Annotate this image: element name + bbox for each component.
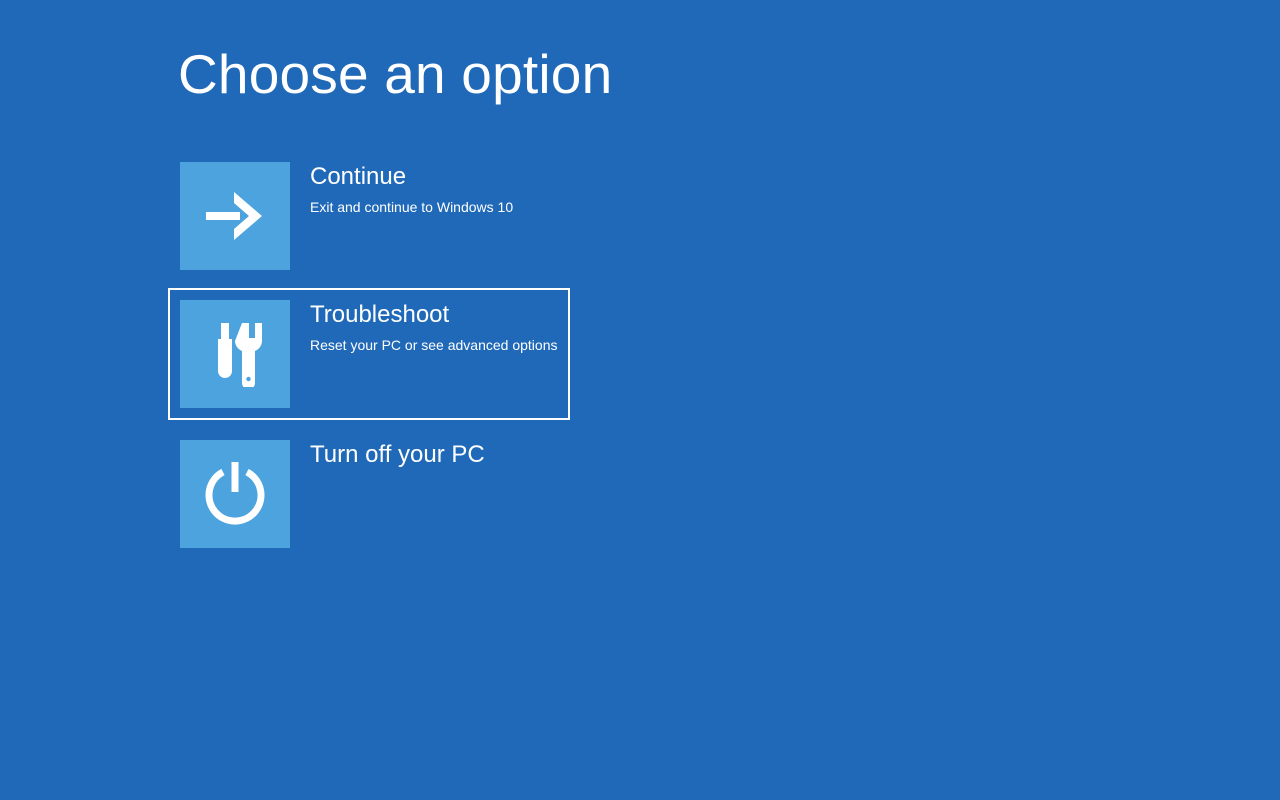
option-text: Turn off your PC	[290, 440, 558, 469]
option-subtitle: Reset your PC or see advanced options	[310, 336, 558, 354]
screwdriver-wrench-icon	[206, 321, 264, 387]
power-icon	[203, 460, 267, 528]
option-title: Troubleshoot	[310, 301, 558, 329]
arrow-right-icon	[204, 190, 266, 242]
option-turn-off-your-pc[interactable]: Turn off your PC	[168, 428, 570, 560]
option-tile	[180, 162, 290, 270]
option-title: Turn off your PC	[310, 441, 558, 469]
option-text: Troubleshoot Reset your PC or see advanc…	[290, 300, 558, 354]
option-tile	[180, 300, 290, 408]
option-continue[interactable]: Continue Exit and continue to Windows 10	[168, 150, 570, 282]
choose-an-option-screen: Choose an option Continue Exit and conti…	[0, 0, 1280, 800]
option-troubleshoot[interactable]: Troubleshoot Reset your PC or see advanc…	[168, 288, 570, 420]
option-tile	[180, 440, 290, 548]
option-text: Continue Exit and continue to Windows 10	[290, 162, 558, 216]
option-subtitle: Exit and continue to Windows 10	[310, 198, 558, 216]
option-title: Continue	[310, 163, 558, 191]
page-title: Choose an option	[178, 47, 612, 102]
